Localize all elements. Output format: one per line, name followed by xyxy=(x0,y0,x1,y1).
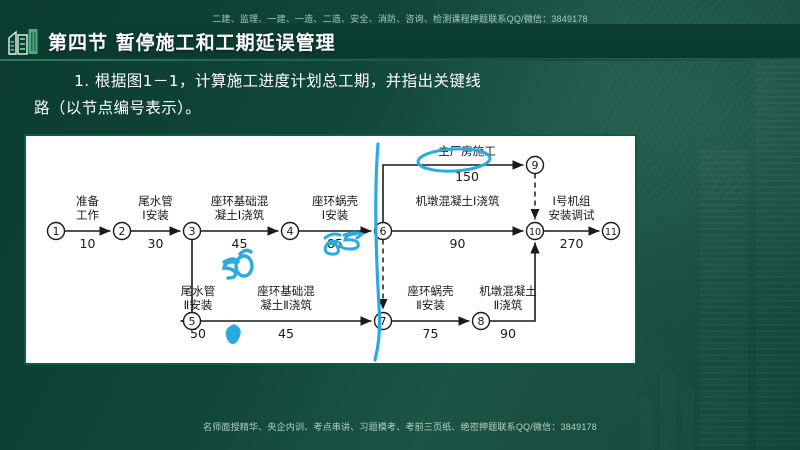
node-label-1: 1 xyxy=(53,225,60,238)
node-3[interactable]: 3 xyxy=(184,223,201,240)
activity-name-2-3: 尾水管 xyxy=(138,194,173,208)
page-title: 第四节 暂停施工和工期延误管理 xyxy=(48,28,336,55)
activity-3-4: 座环基础混凝土Ⅰ浇筑45 xyxy=(201,194,279,251)
background-building-2 xyxy=(700,150,748,450)
node-label-2: 2 xyxy=(119,225,126,238)
activity-duration-6-10: 90 xyxy=(450,236,466,251)
activity-name-3-5: Ⅱ安装 xyxy=(184,298,213,312)
activity-name-1-2: 工作 xyxy=(76,208,99,222)
background-building-4 xyxy=(682,388,694,450)
node-7[interactable]: 7 xyxy=(375,313,392,330)
activity-duration-8-10: 90 xyxy=(500,326,516,341)
activity-duration-3-4: 45 xyxy=(232,236,248,251)
activity-duration-10-11: 270 xyxy=(560,236,584,251)
activity-duration-1-2: 10 xyxy=(80,236,96,251)
activity-name-8-10: 机墩混凝土 xyxy=(479,284,537,298)
activity-1-2: 准备工作10 xyxy=(65,194,111,251)
activity-6-9: 主厂房施工150 xyxy=(383,144,524,223)
question-text: 1. 根据图1－1，计算施工进度计划总工期，并指出关键线 路（以节点编号表示）。 xyxy=(34,68,654,122)
activity-name-4-6: Ⅰ安装 xyxy=(322,208,349,222)
activity-2-3: 尾水管Ⅰ安装30 xyxy=(131,194,181,251)
node-9[interactable]: 9 xyxy=(527,157,544,174)
node-label-4: 4 xyxy=(287,225,294,238)
node-label-3: 3 xyxy=(189,225,196,238)
node-4[interactable]: 4 xyxy=(282,223,299,240)
activity-name-5-7: 凝土Ⅱ浇筑 xyxy=(260,298,312,312)
activity-6-10: 机墩混凝土Ⅰ浇筑90 xyxy=(392,194,524,251)
activity-name-3-4: 座环基础混 xyxy=(211,194,269,208)
activity-name-5-7: 座环基础混 xyxy=(257,284,315,298)
activity-name-8-10: Ⅱ浇筑 xyxy=(494,298,523,312)
slide-root: 二建、监理、一建、一造、二造、安全、消防、咨询、检测课程押题联系QQ/微信：38… xyxy=(0,0,800,450)
activity-duration-7-8: 75 xyxy=(423,326,439,341)
activity-name-3-4: 凝土Ⅰ浇筑 xyxy=(215,208,265,222)
node-label-11: 11 xyxy=(605,227,617,238)
activity-name-2-3: Ⅰ安装 xyxy=(142,208,169,222)
activity-4-6: 座环蜗壳Ⅰ安装85 xyxy=(299,194,372,251)
network-diagram: 准备工作10尾水管Ⅰ安装30座环基础混凝土Ⅰ浇筑45座环蜗壳Ⅰ安装85尾水管Ⅱ安… xyxy=(26,136,635,363)
node-label-7: 7 xyxy=(380,315,387,328)
activity-name-7-8: 座环蜗壳 xyxy=(408,284,454,298)
activity-name-10-11: Ⅰ号机组 xyxy=(553,194,591,208)
node-8[interactable]: 8 xyxy=(473,313,490,330)
diagram-card: 准备工作10尾水管Ⅰ安装30座环基础混凝土Ⅰ浇筑45座环蜗壳Ⅰ安装85尾水管Ⅱ安… xyxy=(24,134,637,365)
title-bar: 第四节 暂停施工和工期延误管理 xyxy=(0,24,800,58)
activity-name-1-2: 准备 xyxy=(76,194,99,208)
activity-name-4-6: 座环蜗壳 xyxy=(312,194,358,208)
node-label-10: 10 xyxy=(529,227,541,238)
node-label-5: 5 xyxy=(189,315,196,328)
activity-duration-5-7: 45 xyxy=(278,326,294,341)
activity-name-10-11: 安装调试 xyxy=(549,208,595,222)
node-10[interactable]: 10 xyxy=(527,223,544,240)
activity-name-6-10: 机墩混凝土Ⅰ浇筑 xyxy=(416,194,500,208)
node-label-8: 8 xyxy=(478,315,485,328)
activity-7-8: 座环蜗壳Ⅱ安装75 xyxy=(392,284,470,341)
question-line-1: 1. 根据图1－1，计算施工进度计划总工期，并指出关键线 xyxy=(34,68,654,95)
node-label-9: 9 xyxy=(532,159,539,172)
node-6[interactable]: 6 xyxy=(375,223,392,240)
background-building-1 xyxy=(756,60,800,450)
node-2[interactable]: 2 xyxy=(114,223,131,240)
activity-name-3-5: 尾水管 xyxy=(181,284,216,298)
activity-duration-4-6: 85 xyxy=(327,236,343,251)
background-building-3 xyxy=(660,372,676,450)
activity-name-6-9: 主厂房施工 xyxy=(438,144,496,158)
building-icon xyxy=(6,26,44,56)
activity-name-7-8: Ⅱ安装 xyxy=(416,298,445,312)
activity-duration-6-9: 150 xyxy=(455,169,479,184)
node-11[interactable]: 11 xyxy=(603,223,620,240)
node-1[interactable]: 1 xyxy=(48,223,65,240)
node-5[interactable]: 5 xyxy=(184,313,201,330)
activity-5-7: 座环基础混凝土Ⅱ浇筑45 xyxy=(201,284,372,341)
question-line-2: 路（以节点编号表示）。 xyxy=(34,95,654,122)
activity-10-11: Ⅰ号机组安装调试270 xyxy=(544,194,600,251)
watermark-bottom: 名师面授精华、央企内训、考点串讲、习题模考、考前三页纸、绝密押题联系QQ/微信：… xyxy=(0,420,800,433)
node-label-6: 6 xyxy=(380,225,387,238)
activity-duration-2-3: 30 xyxy=(148,236,164,251)
